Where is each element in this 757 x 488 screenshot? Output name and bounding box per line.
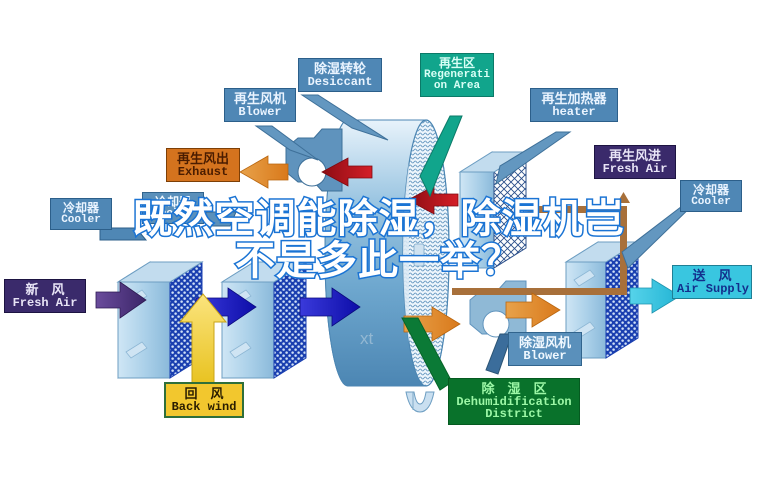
label-regen-fresh-air-cn: 再生风进 <box>599 149 671 163</box>
label-back-wind: 回 风 Back wind <box>164 382 244 418</box>
label-regen-area-en2: on Area <box>424 81 490 93</box>
arrow-regen-exhaust <box>240 156 288 188</box>
label-regen-blower-cn: 再生风机 <box>229 92 291 106</box>
dehumidifier-diagram: xt <box>0 0 757 488</box>
label-dehum-district: 除 湿 区 Dehumidification District <box>448 378 580 425</box>
headline-line-1: 既然空调能除湿，除湿机岂 <box>0 198 757 240</box>
label-dehum-blower: 除湿风机 Blower <box>508 332 582 366</box>
label-cooler-right-cn: 冷却器 <box>685 184 737 197</box>
headline-overlay: 既然空调能除湿，除湿机岂 不是多此一举？ <box>0 198 757 282</box>
label-fresh-air-in: 新 风 Fresh Air <box>4 279 86 313</box>
label-regen-area-cn: 再生区 <box>424 57 490 70</box>
label-regen-heater-cn: 再生加热器 <box>535 92 613 106</box>
label-regen-fresh-air: 再生风进 Fresh Air <box>594 145 676 179</box>
label-dehum-district-cn: 除 湿 区 <box>453 382 575 396</box>
label-dehum-blower-cn: 除湿风机 <box>513 336 577 350</box>
label-regen-area: 再生区 Regenerati on Area <box>420 53 494 97</box>
label-back-wind-cn: 回 风 <box>170 387 238 401</box>
label-regen-heater-en: heater <box>535 106 613 119</box>
label-exhaust-cn: 再生风出 <box>171 152 235 166</box>
label-fresh-air-in-en: Fresh Air <box>9 297 81 310</box>
label-regen-blower: 再生风机 Blower <box>224 88 296 122</box>
label-exhaust-en: Exhaust <box>171 166 235 179</box>
label-regen-blower-en: Blower <box>229 106 291 119</box>
label-dehum-blower-en: Blower <box>513 350 577 363</box>
label-dehum-district-en2: District <box>453 408 575 421</box>
headline-line-2: 不是多此一举？ <box>0 240 757 282</box>
label-regen-fresh-air-en: Fresh Air <box>599 163 671 176</box>
label-desiccant: 除湿转轮 Desiccant <box>298 58 382 92</box>
regen-blower-fan <box>286 129 342 191</box>
label-fresh-air-in-cn: 新 风 <box>9 283 81 297</box>
watermark-text: xt <box>360 329 374 348</box>
label-regen-heater: 再生加热器 heater <box>530 88 618 122</box>
label-back-wind-en: Back wind <box>170 401 238 414</box>
label-air-supply-en: Air Supply <box>677 283 747 296</box>
label-exhaust: 再生风出 Exhaust <box>166 148 240 182</box>
label-desiccant-en: Desiccant <box>303 76 377 89</box>
label-desiccant-cn: 除湿转轮 <box>303 62 377 76</box>
